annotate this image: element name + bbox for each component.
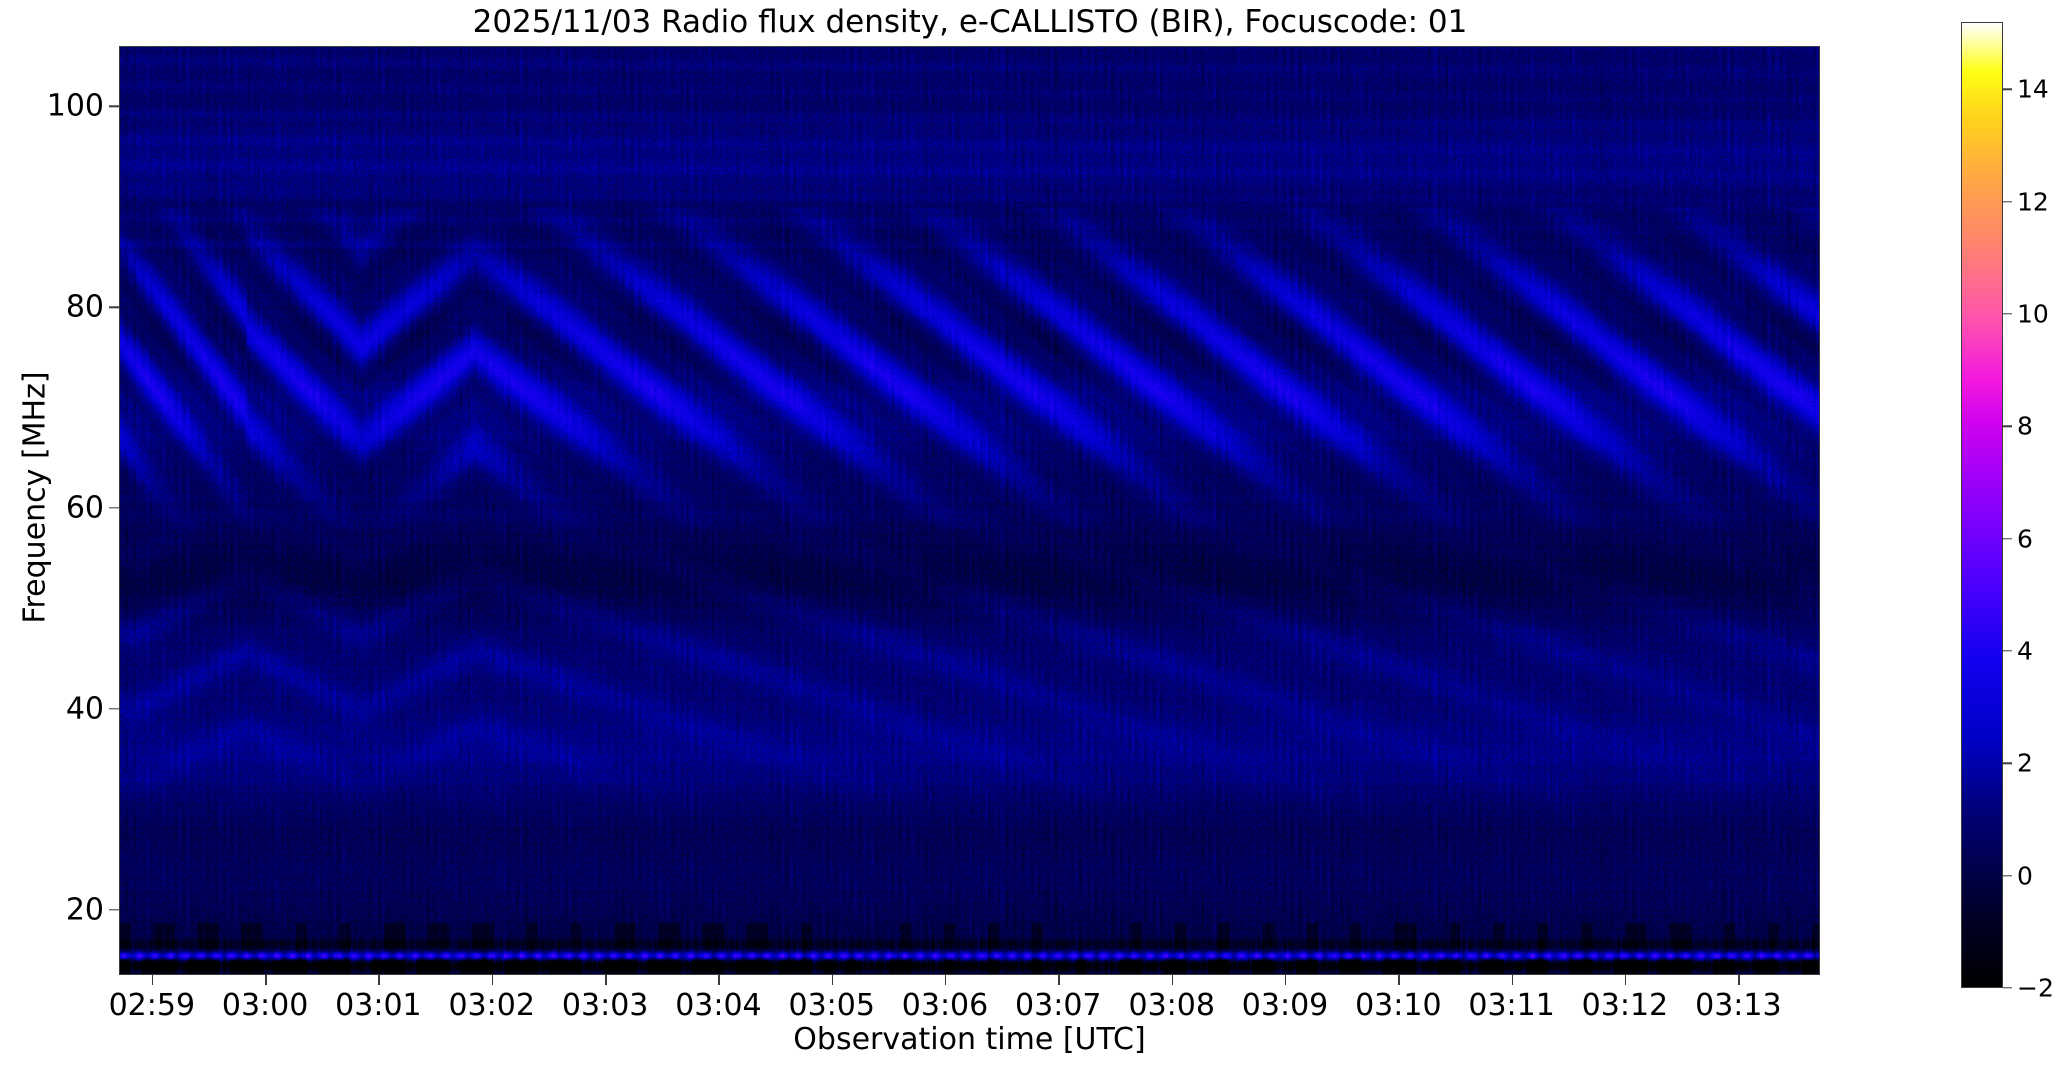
x-tick-label-group: 02:5903:0003:0103:0203:0303:0403:0503:06…: [119, 988, 1820, 1022]
y-tick-mark: [109, 909, 119, 910]
x-axis-label: Observation time [UTC]: [119, 1022, 1820, 1057]
x-tick-label: 03:12: [1582, 988, 1668, 1023]
y-axis-label: Frequency [MHz]: [18, 33, 53, 963]
colorbar-tick-mark: [2003, 538, 2012, 539]
y-tick-mark: [109, 106, 119, 107]
x-tick-mark: [1512, 975, 1513, 985]
y-tick-label: 100: [47, 89, 104, 124]
colorbar-tick-mark: [2003, 89, 2012, 90]
x-tick-mark: [1738, 975, 1739, 985]
x-tick-label: 03:09: [1242, 988, 1328, 1023]
colorbar-tick-label: 14: [2017, 75, 2049, 104]
colorbar-tick-group: 14121086420−2: [2003, 22, 2063, 988]
colorbar-gradient: [1962, 23, 2002, 987]
y-tick-mark: [109, 507, 119, 508]
x-tick-label: 03:06: [902, 988, 988, 1023]
colorbar[interactable]: [1961, 22, 2003, 988]
x-tick-label: 03:02: [448, 988, 534, 1023]
y-tick-mark-group: [109, 46, 119, 975]
colorbar-tick-mark: [2003, 875, 2012, 876]
x-tick-label: 03:03: [562, 988, 648, 1023]
x-tick-label: 03:08: [1129, 988, 1215, 1023]
x-tick-mark: [1625, 975, 1626, 985]
spectrogram-axes[interactable]: [119, 46, 1820, 975]
x-tick-mark: [1172, 975, 1173, 985]
x-tick-mark: [1285, 975, 1286, 985]
x-tick-label: 03:05: [788, 988, 874, 1023]
x-tick-mark: [378, 975, 379, 985]
colorbar-tick-mark: [2003, 987, 2012, 988]
x-tick-mark: [1058, 975, 1059, 985]
colorbar-tick-mark: [2003, 426, 2012, 427]
colorbar-tick-mark: [2003, 313, 2012, 314]
x-tick-label: 03:01: [335, 988, 421, 1023]
y-tick-label: 60: [66, 490, 104, 525]
colorbar-tick-label: 8: [2017, 412, 2033, 441]
colorbar-tick-label: −2: [2017, 974, 2054, 1003]
x-tick-mark-group: [119, 975, 1820, 985]
y-tick-label: 40: [66, 691, 104, 726]
x-tick-mark: [718, 975, 719, 985]
spectrogram-figure: 2025/11/03 Radio flux density, e-CALLIST…: [0, 0, 2066, 1067]
y-tick-mark: [109, 708, 119, 709]
x-tick-mark: [265, 975, 266, 985]
x-tick-label: 03:04: [675, 988, 761, 1023]
x-tick-label: 03:11: [1468, 988, 1554, 1023]
x-tick-label: 03:10: [1355, 988, 1441, 1023]
x-tick-mark: [1398, 975, 1399, 985]
x-tick-mark: [832, 975, 833, 985]
spectrogram-image: [120, 47, 1819, 974]
y-tick-mark: [109, 306, 119, 307]
x-tick-mark: [492, 975, 493, 985]
x-tick-label: 03:13: [1695, 988, 1781, 1023]
colorbar-tick-label: 6: [2017, 524, 2033, 553]
colorbar-tick-label: 2: [2017, 749, 2033, 778]
colorbar-tick-mark: [2003, 763, 2012, 764]
figure-title: 2025/11/03 Radio flux density, e-CALLIST…: [119, 2, 1821, 42]
colorbar-tick-mark: [2003, 650, 2012, 651]
y-tick-label: 20: [66, 892, 104, 927]
x-tick-mark: [605, 975, 606, 985]
y-tick-label: 80: [66, 290, 104, 325]
colorbar-tick-label: 4: [2017, 637, 2033, 666]
x-tick-label: 03:00: [222, 988, 308, 1023]
x-tick-mark: [152, 975, 153, 985]
colorbar-tick-label: 0: [2017, 861, 2033, 890]
colorbar-tick-label: 12: [2017, 187, 2049, 216]
colorbar-tick-mark: [2003, 201, 2012, 202]
x-tick-mark: [945, 975, 946, 985]
colorbar-tick-label: 10: [2017, 300, 2049, 329]
x-tick-label: 02:59: [109, 988, 195, 1023]
x-tick-label: 03:07: [1015, 988, 1101, 1023]
